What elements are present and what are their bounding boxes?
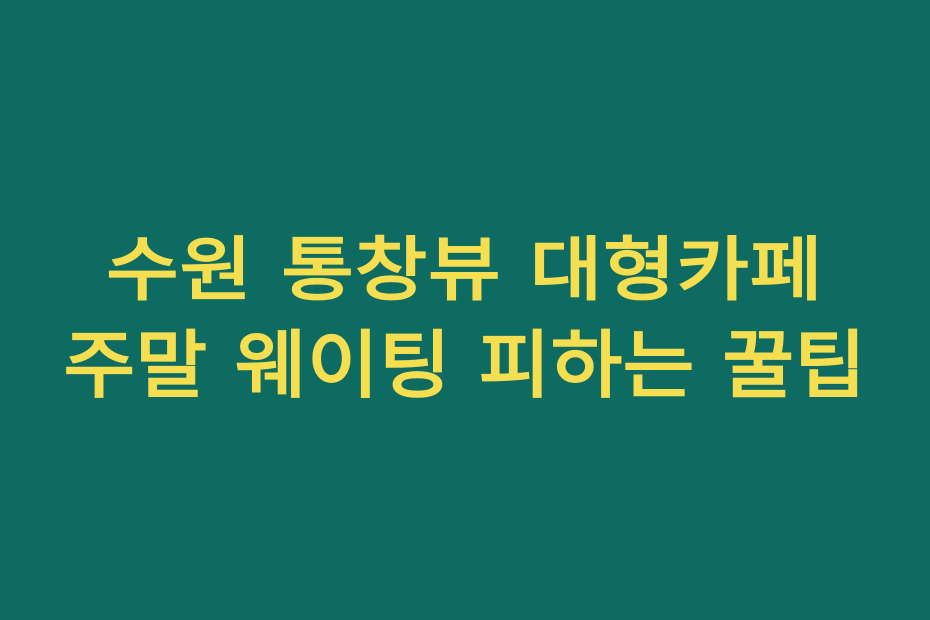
headline-line-2: 주말 웨이팅 피하는 꿀팁 bbox=[0, 318, 930, 414]
headline-line-1: 수원 통창뷰 대형카페 bbox=[0, 222, 930, 318]
thumbnail-card: 수원 통창뷰 대형카페 주말 웨이팅 피하는 꿀팁 bbox=[0, 0, 930, 620]
headline-block: 수원 통창뷰 대형카페 주말 웨이팅 피하는 꿀팁 bbox=[0, 222, 930, 414]
